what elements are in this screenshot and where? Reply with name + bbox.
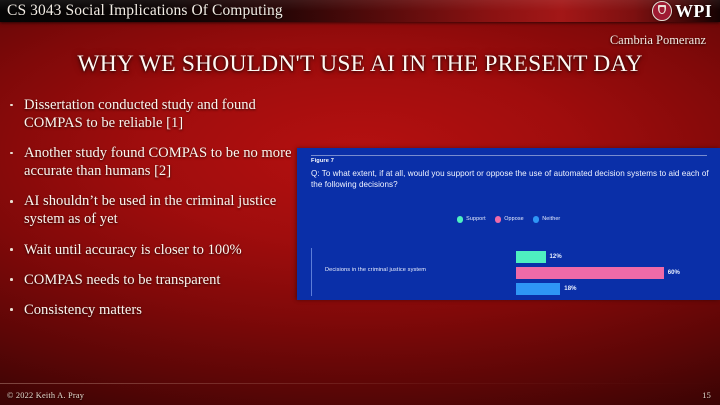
list-item: AI shouldn’t be used in the criminal jus…	[6, 192, 306, 228]
wpi-logo-text: WPI	[675, 2, 712, 20]
bullet-dot-icon	[10, 152, 13, 155]
legend-label: Neither	[542, 216, 560, 222]
chart-bar	[516, 283, 560, 295]
legend-item-oppose: Oppose	[495, 216, 524, 223]
chart-axis	[311, 248, 312, 296]
chart-figure-label: Figure 7	[311, 158, 334, 164]
wpi-logo: WPI	[652, 1, 712, 21]
chart-bar-value: 18%	[564, 286, 576, 292]
slide: CS 3043 Social Implications Of Computing…	[0, 0, 720, 405]
bullet-text: Consistency matters	[24, 302, 142, 318]
bullet-dot-icon	[10, 104, 13, 107]
bullet-text: COMPAS needs to be transparent	[24, 272, 220, 288]
legend-swatch-icon	[533, 216, 540, 223]
wpi-seal-icon	[652, 1, 672, 21]
bullet-list: Dissertation conducted study and found C…	[6, 96, 306, 331]
chart-category-label: Decisions in the criminal justice system	[325, 267, 426, 273]
footer-divider	[0, 383, 720, 384]
legend-label: Oppose	[504, 216, 523, 222]
bullet-dot-icon	[10, 200, 13, 203]
legend-item-neither: Neither	[533, 216, 561, 223]
chart-plot-area: Decisions in the criminal justice system…	[311, 248, 711, 296]
chart-bar-row-neither: 18%	[516, 282, 711, 295]
chart-title: Q: To what extent, if at all, would you …	[311, 168, 709, 191]
course-title: CS 3043 Social Implications Of Computing	[7, 2, 283, 20]
chart-divider	[311, 155, 707, 156]
page-number: 15	[702, 391, 711, 400]
bullet-dot-icon	[10, 278, 13, 281]
chart-bar-group: 12% 60% 18%	[516, 250, 711, 298]
copyright-text: © 2022 Keith A. Pray	[7, 391, 84, 400]
legend-swatch-icon	[457, 216, 464, 223]
chart-bar-value: 12%	[550, 254, 562, 260]
chart-bar-row-oppose: 60%	[516, 266, 711, 279]
list-item: Wait until accuracy is closer to 100%	[6, 241, 306, 259]
chart-legend: Support Oppose Neither	[297, 216, 720, 223]
legend-swatch-icon	[495, 216, 502, 223]
list-item: Another study found COMPAS to be no more…	[6, 144, 306, 180]
bullet-dot-icon	[10, 308, 13, 311]
chart-figure: Figure 7 Q: To what extent, if at all, w…	[297, 148, 720, 300]
page-title: WHY WE SHOULDN'T USE AI IN THE PRESENT D…	[0, 51, 720, 78]
legend-item-support: Support	[457, 216, 486, 223]
bullet-text: Wait until accuracy is closer to 100%	[24, 242, 242, 258]
chart-bar-value: 60%	[668, 270, 680, 276]
list-item: Dissertation conducted study and found C…	[6, 96, 306, 132]
chart-bar	[516, 267, 664, 279]
author-name: Cambria Pomeranz	[610, 33, 706, 48]
bullet-text: Another study found COMPAS to be no more…	[24, 145, 291, 179]
list-item: Consistency matters	[6, 301, 306, 319]
bullet-dot-icon	[10, 248, 13, 251]
chart-bar	[516, 251, 546, 263]
list-item: COMPAS needs to be transparent	[6, 271, 306, 289]
legend-label: Support	[466, 216, 486, 222]
bullet-text: AI shouldn’t be used in the criminal jus…	[24, 193, 276, 227]
chart-bar-row-support: 12%	[516, 250, 711, 263]
bullet-text: Dissertation conducted study and found C…	[24, 97, 256, 131]
